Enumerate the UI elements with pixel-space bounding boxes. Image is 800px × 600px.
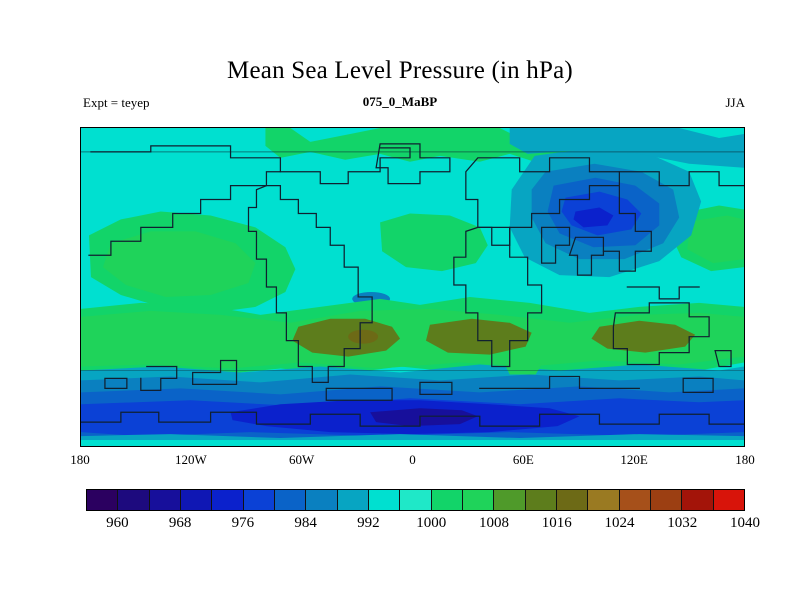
colorbar-cell-15 — [557, 490, 588, 510]
x-tick-label-180w: 180 — [45, 452, 115, 468]
colorbar-cell-20 — [714, 490, 744, 510]
colorbar-cell-14 — [526, 490, 557, 510]
colorbar — [86, 489, 745, 511]
page-title: Mean Sea Level Pressure (in hPa) — [0, 57, 800, 85]
x-tick-label-180e: 180 — [710, 452, 780, 468]
x-tick-label-120w: 120W — [156, 452, 226, 468]
colorbar-cell-8 — [338, 490, 369, 510]
colorbar-cell-11 — [432, 490, 463, 510]
colorbar-cell-3 — [181, 490, 212, 510]
colorbar-cell-13 — [494, 490, 525, 510]
x-tick-label-120e: 120E — [599, 452, 669, 468]
axis-ticks — [81, 128, 744, 446]
colorbar-cell-2 — [150, 490, 181, 510]
colorbar-tick-label-1000: 1000 — [396, 515, 466, 532]
colorbar-cell-4 — [212, 490, 243, 510]
x-tick-label-0: 0 — [378, 452, 448, 468]
colorbar-cell-1 — [118, 490, 149, 510]
colorbar-cell-18 — [651, 490, 682, 510]
colorbar-cell-6 — [275, 490, 306, 510]
colorbar-tick-label-1016: 1016 — [522, 515, 592, 532]
colorbar-tick-label-968: 968 — [145, 515, 215, 532]
colorbar-tick-label-1008: 1008 — [459, 515, 529, 532]
colorbar-cell-5 — [244, 490, 275, 510]
mslp-figure: Mean Sea Level Pressure (in hPa) 075_0_M… — [0, 0, 800, 600]
colorbar-cell-16 — [588, 490, 619, 510]
colorbar-cell-12 — [463, 490, 494, 510]
colorbar-tick-label-992: 992 — [333, 515, 403, 532]
season-label: JJA — [725, 95, 745, 111]
colorbar-cell-10 — [400, 490, 431, 510]
colorbar-tick-label-976: 976 — [208, 515, 278, 532]
colorbar-tick-label-1032: 1032 — [647, 515, 717, 532]
colorbar-tick-label-1024: 1024 — [584, 515, 654, 532]
colorbar-cell-17 — [620, 490, 651, 510]
colorbar-cell-0 — [87, 490, 118, 510]
colorbar-cell-7 — [306, 490, 337, 510]
map-plot-area — [80, 127, 745, 447]
colorbar-cell-19 — [682, 490, 713, 510]
colorbar-tick-label-984: 984 — [271, 515, 341, 532]
experiment-label: Expt = teyep — [83, 95, 150, 111]
x-tick-label-60e: 60E — [488, 452, 558, 468]
x-tick-label-60w: 60W — [267, 452, 337, 468]
colorbar-tick-label-960: 960 — [82, 515, 152, 532]
colorbar-tick-label-1040: 1040 — [710, 515, 780, 532]
colorbar-cell-9 — [369, 490, 400, 510]
